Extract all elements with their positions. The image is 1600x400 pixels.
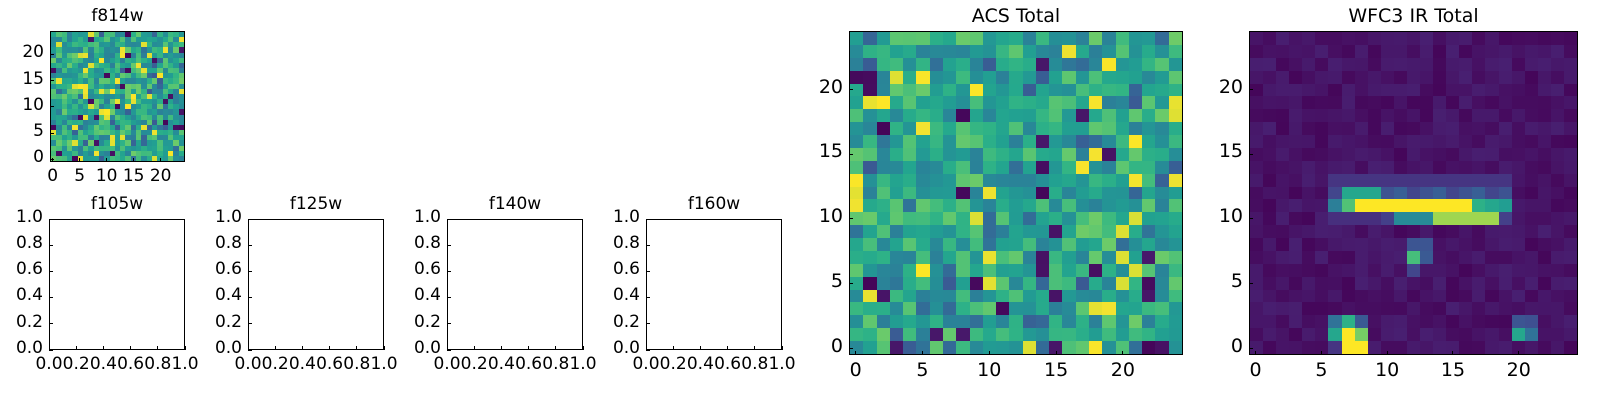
heat-cell — [943, 122, 956, 135]
heat-cell — [1315, 225, 1328, 238]
heat-cell — [970, 199, 983, 212]
heat-cell — [1289, 277, 1302, 290]
y-tickmark — [849, 283, 853, 284]
heat-cell — [1169, 71, 1182, 84]
heat-cell — [930, 148, 943, 161]
heat-cell — [1263, 225, 1276, 238]
x-tickmark — [160, 158, 161, 162]
heat-cell — [1446, 58, 1459, 71]
heat-cell — [956, 302, 969, 315]
x-tickmark — [76, 346, 77, 350]
heat-cell — [1089, 148, 1102, 161]
heat-cell — [916, 96, 929, 109]
heat-cell — [1328, 32, 1341, 45]
heat-cell — [1102, 148, 1115, 161]
heat-cell — [1459, 187, 1472, 200]
heat-cell — [1342, 251, 1355, 264]
heat-cell — [1102, 341, 1115, 354]
heat-cell — [930, 225, 943, 238]
heat-cell — [1499, 290, 1512, 303]
heat-cell — [1142, 187, 1155, 200]
heat-cell — [1328, 212, 1341, 225]
heat-cell — [1328, 315, 1341, 328]
heat-cell — [1551, 84, 1564, 97]
y-tick-label: 1.0 — [582, 207, 640, 227]
heat-cell — [1538, 135, 1551, 148]
heat-cell — [1564, 174, 1577, 187]
heat-cell — [1394, 199, 1407, 212]
heat-cell — [1169, 212, 1182, 225]
heat-cell — [930, 45, 943, 58]
heat-cell — [1459, 45, 1472, 58]
heat-cell — [956, 212, 969, 225]
heat-cell — [1062, 135, 1075, 148]
heat-cell — [1250, 122, 1263, 135]
heat-cell — [1564, 84, 1577, 97]
heat-cell — [1551, 174, 1564, 187]
heat-cell — [1564, 277, 1577, 290]
heat-cell — [1512, 302, 1525, 315]
heat-cell — [1420, 264, 1433, 277]
heat-cell — [930, 161, 943, 174]
y-tick-label: 0 — [0, 147, 44, 167]
heat-cell — [1342, 174, 1355, 187]
heat-cell — [1102, 58, 1115, 71]
heat-cell — [1289, 148, 1302, 161]
heat-cell — [1499, 96, 1512, 109]
heat-cell — [1302, 174, 1315, 187]
heat-cell — [1009, 225, 1022, 238]
heat-cell — [877, 84, 890, 97]
heat-cell — [877, 45, 890, 58]
heat-cell — [1263, 302, 1276, 315]
heat-cell — [996, 290, 1009, 303]
heat-cell — [1302, 122, 1315, 135]
heat-cell — [1485, 109, 1498, 122]
heat-cell — [1102, 251, 1115, 264]
heat-cell — [877, 328, 890, 341]
heat-cell — [1076, 238, 1089, 251]
heat-cell — [1009, 96, 1022, 109]
heat-cell — [1381, 71, 1394, 84]
heat-cell — [1499, 212, 1512, 225]
heat-cell — [1485, 32, 1498, 45]
heat-cell — [1381, 135, 1394, 148]
heat-cell — [1289, 45, 1302, 58]
axes-f814w[interactable] — [50, 31, 185, 162]
heat-cell — [1129, 32, 1142, 45]
heat-cell — [890, 71, 903, 84]
heat-cell — [1538, 199, 1551, 212]
heat-cell — [1342, 148, 1355, 161]
heat-cell — [1459, 122, 1472, 135]
heat-cell — [1302, 45, 1315, 58]
heat-cell — [877, 251, 890, 264]
heat-cell — [1116, 277, 1129, 290]
heat-cell — [1036, 32, 1049, 45]
heat-cell — [1076, 251, 1089, 264]
heat-cell — [1155, 212, 1168, 225]
heat-cell — [1355, 341, 1368, 354]
heat-cell — [916, 58, 929, 71]
heat-cell — [903, 315, 916, 328]
heat-cell — [1459, 302, 1472, 315]
heat-cell — [1407, 199, 1420, 212]
axes-f140w[interactable] — [447, 219, 583, 350]
axes-f160w[interactable] — [646, 219, 782, 350]
heat-cell — [1023, 251, 1036, 264]
heat-cell — [1263, 341, 1276, 354]
heat-cell — [1512, 84, 1525, 97]
heat-cell — [890, 315, 903, 328]
heat-cell — [930, 315, 943, 328]
heat-cell — [1368, 225, 1381, 238]
heat-cell — [1394, 71, 1407, 84]
heat-cell — [850, 84, 863, 97]
heat-cell — [1315, 315, 1328, 328]
y-tickmark — [646, 271, 650, 272]
heat-cell — [916, 45, 929, 58]
heat-cell — [983, 96, 996, 109]
heat-cell — [1102, 161, 1115, 174]
heat-cell — [1433, 32, 1446, 45]
heat-cell — [1302, 84, 1315, 97]
heat-cell — [877, 187, 890, 200]
heat-cell — [863, 174, 876, 187]
heat-cell — [1263, 238, 1276, 251]
heat-cell — [903, 109, 916, 122]
x-tickmark — [275, 346, 276, 350]
heat-cell — [916, 302, 929, 315]
heat-cell — [1155, 251, 1168, 264]
heat-cell — [1036, 161, 1049, 174]
axes-f105w[interactable] — [49, 219, 185, 350]
heat-cell — [1342, 109, 1355, 122]
heat-cell — [1062, 199, 1075, 212]
heat-cell — [956, 277, 969, 290]
y-tickmark — [50, 54, 54, 55]
heat-cell — [1525, 84, 1538, 97]
heat-cell — [1551, 212, 1564, 225]
heat-cell — [943, 161, 956, 174]
heat-cell — [970, 225, 983, 238]
heat-cell — [1049, 174, 1062, 187]
y-tick-label: 10 — [785, 205, 843, 227]
heat-cell — [1289, 135, 1302, 148]
heat-cell — [890, 32, 903, 45]
heat-cell — [1459, 109, 1472, 122]
heat-cell — [983, 174, 996, 187]
heat-cell — [1036, 84, 1049, 97]
heat-cell — [1551, 328, 1564, 341]
heat-cell — [1102, 302, 1115, 315]
heat-cell — [996, 315, 1009, 328]
heat-cell — [1089, 122, 1102, 135]
heat-cell — [1263, 199, 1276, 212]
heat-cell — [1433, 225, 1446, 238]
heat-cell — [850, 251, 863, 264]
axes-f125w[interactable] — [248, 219, 384, 350]
heat-cell — [1142, 238, 1155, 251]
heat-cell — [916, 264, 929, 277]
heat-cell — [1302, 264, 1315, 277]
heat-cell — [1459, 212, 1472, 225]
x-tickmark — [1321, 351, 1322, 355]
heat-cell — [970, 148, 983, 161]
heat-cell — [877, 71, 890, 84]
y-tickmark — [447, 219, 451, 220]
heat-cell — [996, 328, 1009, 341]
heat-cell — [1263, 174, 1276, 187]
heat-cell — [1155, 302, 1168, 315]
heat-cell — [877, 290, 890, 303]
heat-cell — [1036, 225, 1049, 238]
heat-cell — [1142, 174, 1155, 187]
heat-cell — [890, 96, 903, 109]
heat-cell — [1420, 328, 1433, 341]
heat-cell — [1315, 212, 1328, 225]
y-tickmark — [1249, 348, 1253, 349]
heat-cell — [1142, 45, 1155, 58]
heat-cell — [863, 45, 876, 58]
heat-cell — [1499, 341, 1512, 354]
x-tickmark — [1122, 351, 1123, 355]
heat-cell — [1446, 174, 1459, 187]
heat-cell — [1289, 187, 1302, 200]
heat-cell — [1564, 264, 1577, 277]
heat-cell — [1169, 341, 1182, 354]
heat-cell — [1250, 238, 1263, 251]
heat-cell — [1328, 45, 1341, 58]
heat-cell — [1394, 341, 1407, 354]
heat-cell — [1420, 71, 1433, 84]
heat-cell — [903, 58, 916, 71]
heat-cell — [1446, 71, 1459, 84]
heat-cell — [1062, 148, 1075, 161]
heat-cell — [890, 109, 903, 122]
heat-cell — [877, 174, 890, 187]
heat-cell — [1169, 58, 1182, 71]
heat-cell — [970, 328, 983, 341]
heat-cell — [1368, 341, 1381, 354]
heat-cell — [1394, 302, 1407, 315]
heat-cell — [1472, 45, 1485, 58]
heat-cell — [1036, 277, 1049, 290]
heat-cell — [1564, 238, 1577, 251]
heat-cell — [1328, 199, 1341, 212]
heat-cell — [1049, 212, 1062, 225]
axes-wfc3-ir-total[interactable] — [1249, 31, 1578, 355]
heat-cell — [1062, 225, 1075, 238]
heat-cell — [956, 161, 969, 174]
heat-cell — [1129, 277, 1142, 290]
heat-cell — [863, 251, 876, 264]
heat-cell — [1355, 212, 1368, 225]
heat-cell — [1302, 109, 1315, 122]
heat-cell — [903, 264, 916, 277]
y-tickmark — [849, 154, 853, 155]
heat-cell — [1446, 251, 1459, 264]
x-tickmark — [356, 346, 357, 350]
heat-cell — [970, 135, 983, 148]
title-f140w: f140w — [447, 194, 583, 214]
heat-cell — [1315, 148, 1328, 161]
heat-cell — [1525, 290, 1538, 303]
heat-cell — [1564, 45, 1577, 58]
heat-cell — [1276, 251, 1289, 264]
heat-cell — [903, 84, 916, 97]
heat-cell — [1538, 161, 1551, 174]
heat-cell — [996, 238, 1009, 251]
heat-cell — [1394, 277, 1407, 290]
heat-cell — [1102, 45, 1115, 58]
heat-cell — [1036, 187, 1049, 200]
heat-cell — [1169, 109, 1182, 122]
x-tickmark — [528, 346, 529, 350]
heat-cell — [1155, 109, 1168, 122]
heat-cell — [903, 32, 916, 45]
heat-cell — [1485, 341, 1498, 354]
heat-cell — [1169, 32, 1182, 45]
heat-cell — [1263, 109, 1276, 122]
heat-cell — [1499, 84, 1512, 97]
heat-cell — [1062, 32, 1075, 45]
heat-cell — [1089, 212, 1102, 225]
heat-cell — [1420, 238, 1433, 251]
x-tick-label: 10 — [1357, 359, 1417, 381]
heat-cell — [1525, 225, 1538, 238]
heat-cell — [1169, 251, 1182, 264]
heat-cell — [996, 71, 1009, 84]
heat-cell — [1049, 225, 1062, 238]
heat-cell — [943, 45, 956, 58]
y-tick-label: 5 — [1185, 270, 1243, 292]
y-tickmark — [49, 245, 53, 246]
heat-cell — [1485, 84, 1498, 97]
heat-cell — [1420, 148, 1433, 161]
heat-cell — [983, 135, 996, 148]
heat-cell — [1459, 264, 1472, 277]
heat-cell — [1009, 174, 1022, 187]
heat-cell — [1009, 148, 1022, 161]
heat-cell — [863, 32, 876, 45]
heat-cell — [1142, 96, 1155, 109]
heat-cell — [1512, 238, 1525, 251]
heat-cell — [1116, 187, 1129, 200]
y-tick-label: 0.2 — [0, 312, 43, 332]
heat-cell — [1023, 238, 1036, 251]
heat-cell — [970, 174, 983, 187]
heat-cell — [943, 328, 956, 341]
heat-cell — [1407, 71, 1420, 84]
heat-cell — [1368, 135, 1381, 148]
heat-cell — [1062, 71, 1075, 84]
heat-cell — [1433, 187, 1446, 200]
heat-cell — [890, 225, 903, 238]
heat-cell — [903, 96, 916, 109]
heat-cell — [903, 135, 916, 148]
heat-cell — [1036, 212, 1049, 225]
y-tick-label: 0.0 — [184, 338, 242, 358]
heat-cell — [1023, 161, 1036, 174]
y-tick-label: 0.0 — [582, 338, 640, 358]
heat-cell — [1155, 161, 1168, 174]
y-tick-label: 0.8 — [383, 233, 441, 253]
heat-cell — [1250, 187, 1263, 200]
heat-cell — [1142, 58, 1155, 71]
x-tick-label: 15 — [1026, 359, 1086, 381]
heat-cell — [1169, 290, 1182, 303]
heat-cell — [1512, 315, 1525, 328]
heat-cell — [1129, 122, 1142, 135]
heat-cell — [1499, 238, 1512, 251]
heat-cell — [1049, 328, 1062, 341]
heat-cell — [1169, 302, 1182, 315]
heat-cell — [1023, 199, 1036, 212]
heat-cell — [1023, 225, 1036, 238]
y-tickmark — [248, 323, 252, 324]
heat-cell — [1036, 135, 1049, 148]
heat-cell — [1102, 238, 1115, 251]
heat-cell — [1485, 122, 1498, 135]
heat-cell — [1049, 238, 1062, 251]
heat-cell — [1355, 290, 1368, 303]
heat-cell — [1062, 45, 1075, 58]
heat-cell — [1342, 212, 1355, 225]
y-tick-label: 0 — [785, 335, 843, 357]
heat-cell — [1302, 96, 1315, 109]
heat-cell — [983, 187, 996, 200]
x-tickmark — [1387, 351, 1388, 355]
heat-cell — [1446, 122, 1459, 135]
heat-cell — [1062, 341, 1075, 354]
heat-cell — [1512, 251, 1525, 264]
heat-cell — [943, 71, 956, 84]
heat-cell — [1076, 122, 1089, 135]
heat-cell — [1076, 161, 1089, 174]
heat-cell — [1116, 174, 1129, 187]
heat-cell — [1276, 45, 1289, 58]
heat-cell — [1538, 84, 1551, 97]
heat-cell — [890, 148, 903, 161]
heat-cell — [1485, 264, 1498, 277]
heat-cell — [1089, 315, 1102, 328]
heat-cell — [1315, 96, 1328, 109]
heat-cell — [1420, 96, 1433, 109]
heat-cell — [1355, 277, 1368, 290]
heat-cell — [1289, 212, 1302, 225]
heat-cell — [1276, 148, 1289, 161]
heat-cell — [1036, 122, 1049, 135]
heat-cell — [1342, 187, 1355, 200]
heat-cell — [930, 212, 943, 225]
heat-cell — [1129, 341, 1142, 354]
heat-cell — [1049, 277, 1062, 290]
heat-cell — [1263, 277, 1276, 290]
heat-cell — [1250, 199, 1263, 212]
heat-cell — [1499, 109, 1512, 122]
heat-cell — [1302, 187, 1315, 200]
heat-cell — [1250, 45, 1263, 58]
axes-acs-total[interactable] — [849, 31, 1183, 355]
heat-cell — [1049, 109, 1062, 122]
heat-cell — [983, 71, 996, 84]
heat-cell — [1472, 122, 1485, 135]
heat-cell — [1459, 58, 1472, 71]
heat-cell — [1289, 174, 1302, 187]
heat-cell — [1169, 45, 1182, 58]
heat-cell — [877, 32, 890, 45]
